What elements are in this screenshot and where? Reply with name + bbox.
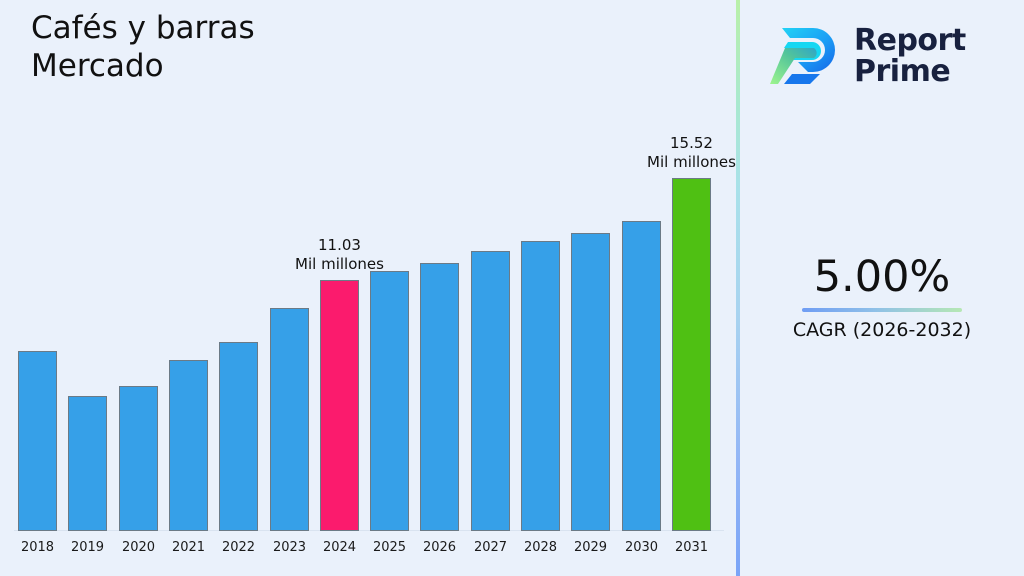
- x-axis-tick-2027: 2027: [463, 540, 518, 556]
- x-axis-tick-2019: 2019: [60, 540, 115, 556]
- bar-2027[interactable]: [471, 251, 510, 531]
- chart-panel: Cafés y barras Mercado 20182019202020212…: [0, 0, 738, 576]
- x-axis-tick-2028: 2028: [513, 540, 568, 556]
- bar-value-label-2024: 11.03Mil millones: [270, 236, 410, 274]
- brand-name-line2: Prime: [854, 56, 966, 87]
- x-axis-tick-2030: 2030: [614, 540, 669, 556]
- brand-name: Report Prime: [854, 25, 966, 87]
- report-prime-logo-mark-icon: [768, 18, 844, 94]
- bar-2019[interactable]: [68, 396, 107, 531]
- bar-2028[interactable]: [521, 241, 560, 531]
- side-panel: Report Prime 5.00% CAGR (2026-2032): [740, 0, 1024, 576]
- cagr-value: 5.00%: [740, 252, 1024, 302]
- brand-name-line1: Report: [854, 23, 966, 58]
- bar-2026[interactable]: [420, 263, 459, 531]
- x-axis-tick-2020: 2020: [111, 540, 166, 556]
- bar-2023[interactable]: [270, 308, 309, 531]
- x-axis-tick-2022: 2022: [211, 540, 266, 556]
- bar-2021[interactable]: [169, 360, 208, 531]
- x-axis-tick-2029: 2029: [563, 540, 618, 556]
- x-axis-tick-2021: 2021: [161, 540, 216, 556]
- cagr-caption: CAGR (2026-2032): [740, 318, 1024, 342]
- cagr-block: 5.00% CAGR (2026-2032): [740, 252, 1024, 342]
- bar-chart-plot: 201820192020202120222023202411.03Mil mil…: [0, 0, 738, 576]
- bar-2020[interactable]: [119, 386, 158, 531]
- x-axis-tick-2026: 2026: [412, 540, 467, 556]
- bar-2018[interactable]: [18, 351, 57, 531]
- bar-2022[interactable]: [219, 342, 258, 531]
- x-axis-tick-2025: 2025: [362, 540, 417, 556]
- chart-page: Cafés y barras Mercado 20182019202020212…: [0, 0, 1024, 576]
- cagr-divider-rule: [802, 308, 962, 312]
- bar-2029[interactable]: [571, 233, 610, 531]
- bar-2025[interactable]: [370, 271, 409, 531]
- x-axis-tick-2024: 2024: [312, 540, 367, 556]
- x-axis-tick-2031: 2031: [664, 540, 719, 556]
- bar-2024[interactable]: [320, 280, 359, 531]
- x-axis-tick-2023: 2023: [262, 540, 317, 556]
- bar-2031[interactable]: [672, 178, 711, 531]
- brand-logo: Report Prime: [768, 10, 1018, 102]
- bar-value-2024: 11.03: [270, 236, 410, 255]
- bar-2030[interactable]: [622, 221, 661, 531]
- x-axis-tick-2018: 2018: [10, 540, 65, 556]
